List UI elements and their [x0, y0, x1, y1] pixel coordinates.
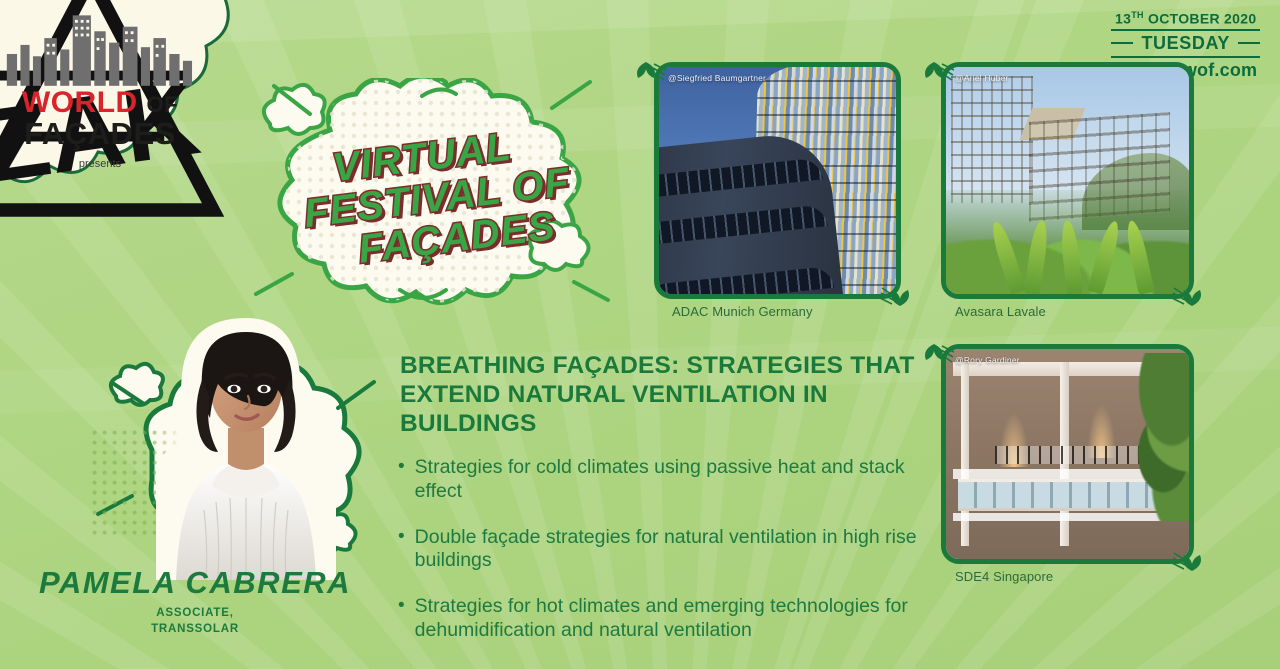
photo-credit: @Ariel Huber	[955, 73, 1009, 83]
burst-cloud-shape-icon	[252, 78, 622, 318]
photo-caption-sde4: SDE4 Singapore	[955, 569, 1053, 584]
photo-image-sde4	[946, 349, 1189, 559]
sprout-icon	[1172, 284, 1206, 310]
speaker-role: ASSOCIATE, TRANSSOLAR	[0, 606, 390, 637]
festival-title-burst: VIRTUAL FESTIVAL OF FAÇADES	[252, 78, 622, 318]
bullet-text: Double façade strategies for natural ven…	[415, 526, 938, 574]
brand-logo-text: WORLD OF FAÇADES presents	[0, 4, 200, 170]
event-date-month-year: OCTOBER 2020	[1144, 11, 1257, 27]
photo-card-adac[interactable]: @Siegfried Baumgartner	[654, 62, 901, 299]
adac-window-band	[654, 266, 833, 299]
talk-title: BREATHING FAÇADES: STRATEGIES THAT EXTEN…	[400, 352, 920, 439]
event-date-suffix: TH	[1131, 10, 1144, 20]
photo-frame: @Ariel Huber	[941, 62, 1194, 299]
photo-credit: @Siegfried Baumgartner	[668, 73, 766, 83]
speaker-name: PAMELA CABRERA	[0, 565, 390, 601]
photo-frame: @Rory Gardiner	[941, 344, 1194, 564]
bullet-text: Strategies for cold climates using passi…	[415, 456, 938, 504]
photo-image-adac	[659, 67, 896, 294]
bullet-dot-icon: •	[398, 595, 405, 643]
city-skyline-icon	[0, 4, 200, 86]
event-day: TUESDAY	[1141, 33, 1230, 54]
poster-canvas: ZAK	[0, 0, 1280, 669]
brand-world: WORLD	[22, 86, 138, 119]
sprout-icon	[632, 58, 666, 84]
list-item: • Strategies for hot climates and emergi…	[398, 595, 938, 643]
photo-caption-avasara: Avasara Lavale	[955, 304, 1046, 319]
sprout-icon	[1172, 549, 1206, 575]
brand-line-1: WORLD OF	[0, 88, 200, 118]
photo-credit: @Rory Gardiner	[955, 355, 1020, 365]
bullet-text: Strategies for hot climates and emerging…	[415, 595, 938, 643]
sprout-icon	[880, 284, 914, 310]
photo-image-avasara	[946, 67, 1189, 294]
event-date-number: 13	[1115, 11, 1131, 27]
speaker-block	[92, 300, 392, 600]
brand-logo-cloud: ZAK	[0, 0, 256, 204]
sprout-icon	[920, 58, 954, 84]
list-item: • Double façade strategies for natural v…	[398, 526, 938, 574]
dash-right-icon	[1238, 42, 1260, 44]
brand-facades: FAÇADES	[0, 118, 200, 151]
speaker-portrait	[156, 310, 336, 580]
speaker-company: TRANSSOLAR	[151, 623, 239, 635]
bullet-dot-icon: •	[398, 526, 405, 574]
brand-of: OF	[147, 92, 179, 117]
photo-card-sde4[interactable]: @Rory Gardiner	[941, 344, 1194, 564]
adac-dark-facade	[654, 129, 843, 299]
list-item: • Strategies for cold climates using pas…	[398, 456, 938, 504]
photo-caption-adac: ADAC Munich Germany	[672, 304, 813, 319]
photo-frame: @Siegfried Baumgartner	[654, 62, 901, 299]
dash-left-icon	[1111, 42, 1133, 44]
bullet-dot-icon: •	[398, 456, 405, 504]
talk-bullets: • Strategies for cold climates using pas…	[398, 456, 938, 665]
event-day-row: TUESDAY	[1111, 31, 1260, 56]
speaker-role-title: ASSOCIATE,	[156, 607, 233, 619]
sde-tree	[1097, 353, 1194, 521]
event-date: 13TH OCTOBER 2020	[1111, 10, 1260, 31]
photo-card-avasara[interactable]: @Ariel Huber	[941, 62, 1194, 299]
sprout-icon	[920, 340, 954, 366]
brand-presents: presents	[0, 158, 200, 170]
